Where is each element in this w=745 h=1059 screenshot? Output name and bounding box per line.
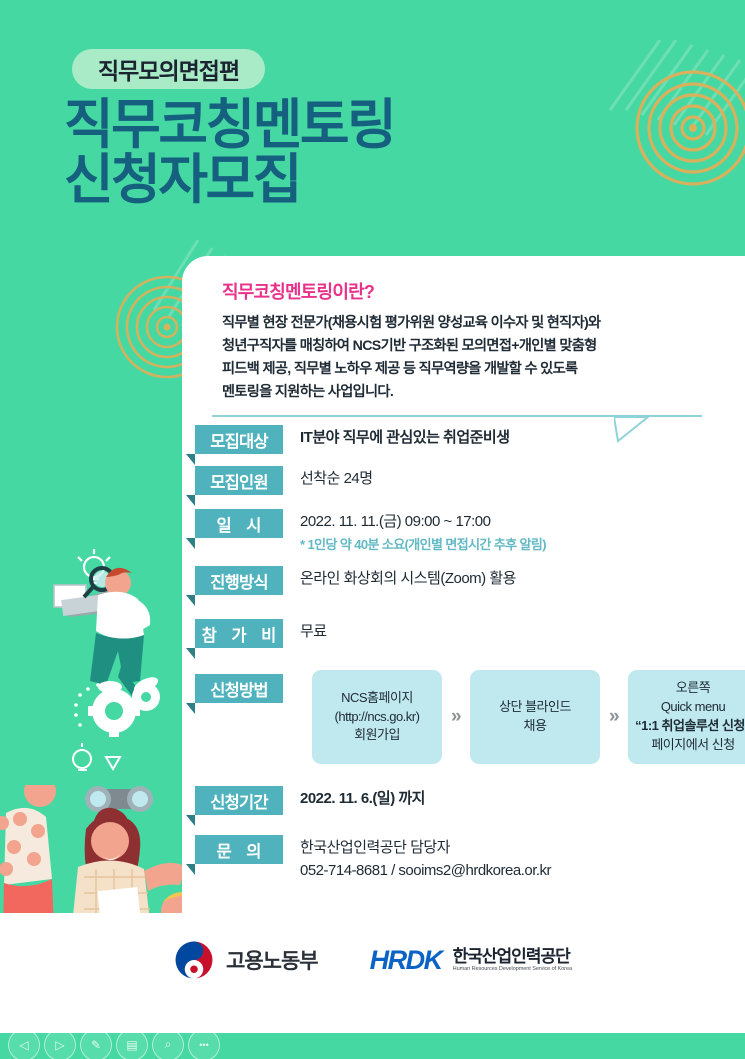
row-label-badge: 참 가 비 — [195, 619, 283, 648]
ministry-label: 고용노동부 — [226, 945, 318, 975]
badge-shadow — [186, 815, 195, 826]
back-icon[interactable]: ◁ — [8, 1029, 40, 1059]
tag-pill: 직무모의면접편 — [72, 49, 265, 89]
viewer-toolbar: ◁ ▷ ✎ ▤ ⌕ ••• — [0, 1030, 240, 1059]
apply-step-1-line-2: (http://ncs.go.kr) — [335, 708, 420, 727]
badge-shadow — [186, 538, 195, 549]
badge-shadow — [186, 648, 195, 659]
apply-step-1-line-1: NCS홈페이지 — [341, 689, 413, 708]
info-row: 참 가 비 무료 — [0, 619, 745, 648]
badge-shadow — [186, 703, 195, 714]
row-label-badge: 모집인원 — [195, 466, 283, 495]
apply-step-3-line-2: Quick menu — [661, 698, 725, 717]
row-value: 한국산업인력공단 담당자 052-714-8681 / sooims2@hrdk… — [283, 835, 745, 882]
hrdk-english-label: Human Resources Development Service of K… — [453, 966, 572, 972]
row-value: IT분야 직무에 관심있는 취업준비생 — [283, 425, 745, 450]
info-row: 신청기간 2022. 11. 6.(일) 까지 — [0, 786, 745, 815]
search-icon[interactable]: ⌕ — [152, 1029, 184, 1059]
badge-shadow — [186, 864, 195, 875]
layout-icon[interactable]: ▤ — [116, 1029, 148, 1059]
row-value: 무료 — [283, 619, 745, 644]
row-label-badge: 문 의 — [195, 835, 283, 864]
row-label-badge: 일 시 — [195, 509, 283, 538]
row-value: 온라인 화상회의 시스템(Zoom) 활용 — [283, 566, 745, 591]
row-label-badge: 모집대상 — [195, 425, 283, 454]
about-body: 직무별 현장 전문가(채용시험 평가위원 양성교육 이수자 및 현직자)와 청년… — [222, 312, 710, 404]
apply-step-2-line-2: 채용 — [524, 717, 547, 736]
info-row: 모집대상 IT분야 직무에 관심있는 취업준비생 — [0, 425, 745, 454]
page-title: 직무코칭멘토링 신청자모집 — [64, 98, 394, 208]
badge-shadow — [186, 495, 195, 506]
poster-root: 직무모의면접편 직무코칭멘토링 신청자모집 — [0, 0, 745, 1059]
badge-shadow — [186, 595, 195, 606]
pen-icon[interactable]: ✎ — [80, 1029, 112, 1059]
info-row: 문 의 한국산업인력공단 담당자 052-714-8681 / sooims2@… — [0, 835, 745, 882]
row-value: 2022. 11. 6.(일) 까지 — [283, 786, 745, 811]
about-title: 직무코칭멘토링이란? — [222, 278, 710, 304]
tag-pill-label: 직무모의면접편 — [98, 52, 239, 86]
row-label-badge: 진행방식 — [195, 566, 283, 595]
info-row: 모집인원 선착순 24명 — [0, 466, 745, 495]
about-section: 직무코칭멘토링이란? 직무별 현장 전문가(채용시험 평가위원 양성교육 이수자… — [222, 278, 710, 404]
apply-step-3-line-4: 페이지에서 신청 — [651, 736, 734, 755]
row-value: 2022. 11. 11.(금) 09:00 ~ 17:00 — [300, 511, 745, 534]
apply-step-2: 상단 블라인드 채용 — [470, 670, 600, 764]
row-note: * 1인당 약 40분 소요(개인별 면접시간 추후 알림) — [300, 535, 745, 555]
chevron-right-icon: » — [600, 703, 628, 732]
badge-shadow — [186, 454, 195, 465]
apply-flow: NCS홈페이지 (http://ncs.go.kr) 회원가입 » 상단 블라인… — [300, 670, 745, 764]
chevron-right-icon: » — [442, 703, 470, 732]
info-row: 진행방식 온라인 화상회의 시스템(Zoom) 활용 — [0, 566, 745, 595]
info-rows: 모집대상 IT분야 직무에 관심있는 취업준비생 모집인원 선착순 24명 일 … — [0, 425, 745, 894]
hrdk-korean-label: 한국산업인력공단 — [453, 948, 572, 966]
apply-step-1: NCS홈페이지 (http://ncs.go.kr) 회원가입 — [312, 670, 442, 764]
info-row: 일 시 2022. 11. 11.(금) 09:00 ~ 17:00 * 1인당… — [0, 509, 745, 554]
hrdk-logo: HRDK 한국산업인력공단 Human Resources Developmen… — [370, 945, 572, 976]
concentric-rings-top-right — [633, 68, 745, 188]
row-label-badge: 신청기간 — [195, 786, 283, 815]
hrdk-text-block: 한국산업인력공단 Human Resources Development Ser… — [453, 948, 572, 972]
row-value: 선착순 24명 — [283, 466, 745, 491]
hatch-lines-top-right — [600, 40, 745, 160]
taegeuk-icon — [173, 939, 215, 981]
apply-step-2-line-1: 상단 블라인드 — [499, 698, 571, 717]
hrdk-wordmark: HRDK — [370, 945, 442, 976]
info-row-apply-method: 신청방법 NCS홈페이지 (http://ncs.go.kr) 회원가입 » 상… — [0, 674, 745, 764]
more-icon[interactable]: ••• — [188, 1029, 220, 1059]
footer-logos: 고용노동부 HRDK 한국산업인력공단 Human Resources Deve… — [0, 939, 745, 981]
apply-step-3-line-3: “1:1 취업솔루션 신청” — [635, 717, 745, 736]
forward-icon[interactable]: ▷ — [44, 1029, 76, 1059]
apply-step-1-line-3: 회원가입 — [354, 726, 400, 745]
apply-step-3-line-1: 오른쪽 — [676, 679, 710, 698]
ministry-of-employment-labor-logo: 고용노동부 — [173, 939, 318, 981]
row-label-badge: 신청방법 — [195, 674, 283, 703]
apply-step-3: 오른쪽 Quick menu “1:1 취업솔루션 신청” 페이지에서 신청 — [628, 670, 745, 764]
